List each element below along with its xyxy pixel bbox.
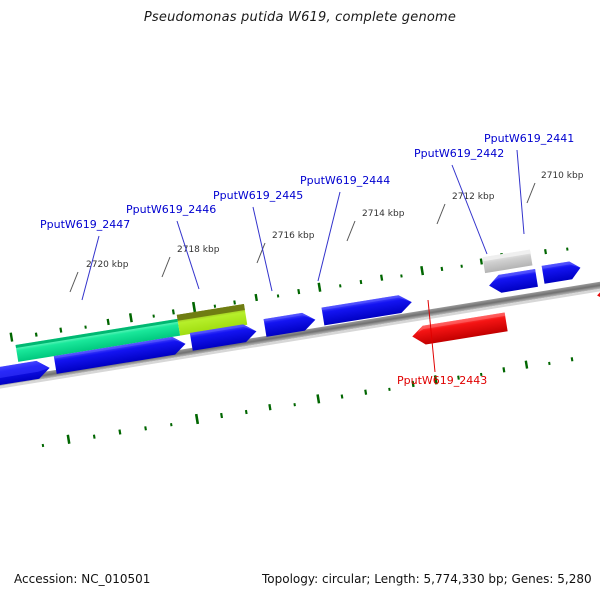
gene-label-PputW619_2444[interactable]: PputW619_2444 (300, 174, 390, 187)
tick-label: 2710 kbp (541, 171, 584, 181)
tick-label: 2716 kbp (272, 231, 315, 241)
leader-line-2442 (452, 165, 487, 254)
gene-label-PputW619_2443[interactable]: PputW619_2443 (397, 374, 487, 387)
tick-label: 2718 kbp (177, 245, 220, 255)
gene-label-PputW619_2445[interactable]: PputW619_2445 (213, 189, 303, 202)
genome-stats-label: Topology: circular; Length: 5,774,330 bp… (262, 572, 592, 586)
tick-label: 2714 kbp (362, 209, 405, 219)
gene-label-PputW619_2446[interactable]: PputW619_2446 (126, 203, 216, 216)
leader-line-2444 (318, 192, 340, 281)
feature-bar-light-gray[interactable] (483, 250, 533, 273)
genome-map-svg: 2720 kbp 2718 kbp 2716 kbp 2714 kbp 2712… (0, 0, 600, 600)
gene-arrow-forward[interactable] (488, 269, 538, 294)
accession-label: Accession: NC_010501 (14, 572, 150, 586)
gene-arrow-forward[interactable] (542, 260, 582, 284)
leader-line-2445 (253, 207, 272, 291)
gene-label-PputW619_2441[interactable]: PputW619_2441 (484, 132, 574, 145)
gene-label-PputW619_2447[interactable]: PputW619_2447 (40, 218, 130, 231)
genome-diagram-canvas: Pseudomonas putida W619, complete genome (0, 0, 600, 600)
leader-line-2441 (517, 150, 524, 234)
leader-line-2446 (177, 221, 199, 289)
tick-label: 2712 kbp (452, 192, 495, 202)
gene-label-PputW619_2442[interactable]: PputW619_2442 (414, 147, 504, 160)
